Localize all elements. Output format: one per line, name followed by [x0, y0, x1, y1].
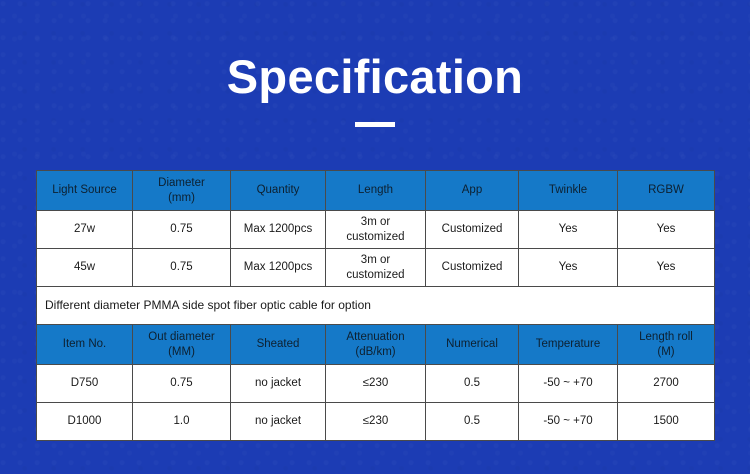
header-line1: Twinkle — [522, 183, 614, 197]
cell-twinkle: Yes — [519, 249, 618, 287]
cell-item-no: D1000 — [37, 403, 133, 441]
cell-length: 3m or customized — [326, 211, 426, 249]
table1-header-rgbw: RGBW — [618, 171, 715, 211]
header-line1: App — [429, 183, 515, 197]
note-row: Different diameter PMMA side spot fiber … — [37, 287, 715, 325]
header-line1: Diameter — [136, 176, 227, 190]
header-line1: Temperature — [522, 337, 614, 351]
table1-header-app: App — [426, 171, 519, 211]
header-line1: Length roll — [621, 330, 711, 344]
table2-header-attenuation: Attenuation (dB/km) — [326, 325, 426, 365]
cell-app: Customized — [426, 249, 519, 287]
cell-length-roll: 2700 — [618, 365, 715, 403]
header-line1: RGBW — [621, 183, 711, 197]
cell-attenuation: ≤230 — [326, 365, 426, 403]
table-row: D1000 1.0 no jacket ≤230 0.5 -50 ~ +70 1… — [37, 403, 715, 441]
header-line1: Attenuation — [329, 330, 422, 344]
cell-out-diameter: 1.0 — [133, 403, 231, 441]
cell-temperature: -50 ~ +70 — [519, 403, 618, 441]
table1-header-row: Light Source Diameter (mm) Quantity Leng… — [37, 171, 715, 211]
header-line1: Item No. — [40, 337, 129, 351]
header-line2: (mm) — [136, 191, 227, 205]
cell-length-roll: 1500 — [618, 403, 715, 441]
table2-header-item-no: Item No. — [37, 325, 133, 365]
table2-header-length-roll: Length roll (M) — [618, 325, 715, 365]
cell-item-no: D750 — [37, 365, 133, 403]
table1-header-light-source: Light Source — [37, 171, 133, 211]
header-line1: Out diameter — [136, 330, 227, 344]
specification-table: Light Source Diameter (mm) Quantity Leng… — [36, 170, 715, 441]
table-row: 27w 0.75 Max 1200pcs 3m or customized Cu… — [37, 211, 715, 249]
cell-length-line1: 3m or — [329, 253, 422, 267]
table2-header-numerical: Numerical — [426, 325, 519, 365]
specification-tables: Light Source Diameter (mm) Quantity Leng… — [36, 170, 714, 441]
cell-attenuation: ≤230 — [326, 403, 426, 441]
header-line2: (M) — [621, 345, 711, 359]
table1-header-quantity: Quantity — [231, 171, 326, 211]
cell-diameter: 0.75 — [133, 211, 231, 249]
title-underline-rule — [355, 122, 395, 127]
cell-out-diameter: 0.75 — [133, 365, 231, 403]
cell-light-source: 45w — [37, 249, 133, 287]
header-line1: Sheated — [234, 337, 322, 351]
table2-header-temperature: Temperature — [519, 325, 618, 365]
header-line2: (MM) — [136, 345, 227, 359]
header-line1: Length — [329, 183, 422, 197]
cell-length: 3m or customized — [326, 249, 426, 287]
header-line1: Quantity — [234, 183, 322, 197]
cell-numerical: 0.5 — [426, 403, 519, 441]
table2-header-row: Item No. Out diameter (MM) Sheated Atten… — [37, 325, 715, 365]
header-line2: (dB/km) — [329, 345, 422, 359]
cell-sheated: no jacket — [231, 403, 326, 441]
table2-header-sheated: Sheated — [231, 325, 326, 365]
cell-quantity: Max 1200pcs — [231, 249, 326, 287]
table1-header-twinkle: Twinkle — [519, 171, 618, 211]
cell-rgbw: Yes — [618, 249, 715, 287]
table1-header-diameter: Diameter (mm) — [133, 171, 231, 211]
cell-quantity: Max 1200pcs — [231, 211, 326, 249]
cell-sheated: no jacket — [231, 365, 326, 403]
cell-diameter: 0.75 — [133, 249, 231, 287]
table-row: 45w 0.75 Max 1200pcs 3m or customized Cu… — [37, 249, 715, 287]
header-line1: Light Source — [40, 183, 129, 197]
cell-app: Customized — [426, 211, 519, 249]
cell-numerical: 0.5 — [426, 365, 519, 403]
cell-length-line2: customized — [329, 230, 422, 244]
cell-length-line1: 3m or — [329, 215, 422, 229]
page-title: Specification — [0, 52, 750, 101]
cell-light-source: 27w — [37, 211, 133, 249]
cell-rgbw: Yes — [618, 211, 715, 249]
title-block: Specification — [0, 0, 750, 127]
table-row: D750 0.75 no jacket ≤230 0.5 -50 ~ +70 2… — [37, 365, 715, 403]
table2-header-out-diameter: Out diameter (MM) — [133, 325, 231, 365]
cell-length-line2: customized — [329, 268, 422, 282]
header-line1: Numerical — [429, 337, 515, 351]
cell-twinkle: Yes — [519, 211, 618, 249]
note-text: Different diameter PMMA side spot fiber … — [37, 287, 715, 325]
table1-header-length: Length — [326, 171, 426, 211]
cell-temperature: -50 ~ +70 — [519, 365, 618, 403]
page-content: Specification Light Source Diameter (mm) — [0, 0, 750, 127]
